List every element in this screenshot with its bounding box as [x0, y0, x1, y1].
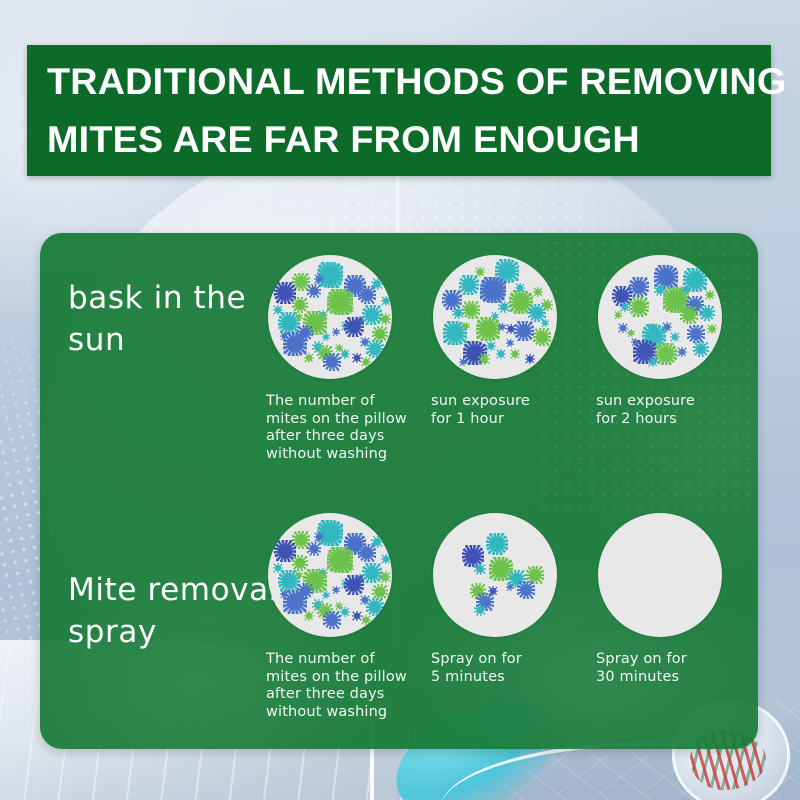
- mite-icon: [680, 306, 698, 324]
- mite-icon: [614, 311, 622, 319]
- mite-icon: [525, 354, 535, 364]
- mite-icon: [307, 284, 321, 298]
- mite-dish-sun-2-hours: [598, 255, 722, 379]
- headline-line-1: TRADITIONAL METHODS OF REMOVING: [47, 53, 785, 111]
- mite-icon: [510, 349, 520, 359]
- mite-icon: [629, 297, 649, 317]
- mite-icon: [304, 353, 314, 363]
- mite-icon: [304, 611, 314, 621]
- mite-icon: [346, 564, 354, 572]
- mite-dish-sun-1-hour: [433, 255, 557, 379]
- mite-dish-spray-30-minutes: [598, 513, 722, 637]
- mite-icon: [462, 301, 480, 319]
- mite-icon: [705, 290, 715, 300]
- mite-dish-sun-untreated: [268, 255, 392, 379]
- mite-icon: [361, 357, 371, 367]
- caption-spray-30-minutes: Spray on for 30 minutes: [596, 651, 754, 686]
- cell-sun-1-hour: sun exposure for 1 hour: [431, 255, 591, 428]
- mite-icon: [332, 328, 340, 336]
- caption-sun-untreated: The number of mites on the pillow after …: [266, 393, 426, 463]
- mite-icon: [681, 286, 689, 294]
- caption-spray-5-minutes: Spray on for 5 minutes: [431, 651, 589, 686]
- mite-dish-spray-untreated: [268, 513, 392, 637]
- mite-icon: [323, 353, 341, 371]
- mite-icon: [295, 571, 303, 579]
- mite-icon: [655, 343, 677, 365]
- mite-icon: [618, 323, 628, 333]
- mite-icon: [517, 581, 535, 599]
- mite-icon: [699, 305, 715, 321]
- row-bask-in-the-sun: bask in the sun The number of mites on t…: [40, 233, 758, 491]
- mite-icon: [541, 299, 553, 311]
- caption-sun-1-hour: sun exposure for 1 hour: [431, 393, 589, 428]
- cell-spray-30-minutes: Spray on for 30 minutes: [596, 513, 756, 686]
- mite-icon: [292, 555, 308, 571]
- mite-icon: [474, 604, 486, 616]
- mite-icon: [322, 333, 330, 341]
- mite-icon: [498, 301, 510, 313]
- mite-icon: [541, 319, 549, 327]
- mite-icon: [480, 277, 506, 303]
- infographic-canvas: TRADITIONAL METHODS OF REMOVING MITES AR…: [0, 0, 800, 800]
- mite-icon: [314, 274, 324, 284]
- mite-icon: [307, 542, 321, 556]
- mite-icon: [491, 312, 499, 320]
- mite-icon: [273, 305, 283, 315]
- mite-icon: [346, 306, 354, 314]
- mite-icon: [344, 317, 364, 337]
- headline-banner: TRADITIONAL METHODS OF REMOVING MITES AR…: [27, 45, 771, 176]
- mite-icon: [273, 563, 283, 573]
- mite-icon: [379, 571, 391, 583]
- mite-icon: [677, 347, 687, 357]
- mite-icon: [358, 544, 376, 562]
- mite-icon: [358, 286, 376, 304]
- mite-icon: [515, 283, 525, 293]
- mite-icon: [707, 324, 717, 334]
- row-label-bask-in-the-sun: bask in the sun: [68, 277, 283, 361]
- row-mite-removal-spray: Mite removal spray The number of mites o…: [40, 491, 758, 749]
- mite-icon: [475, 267, 485, 277]
- mite-icon: [476, 317, 500, 341]
- mite-icon: [314, 532, 324, 542]
- cell-sun-untreated: The number of mites on the pillow after …: [266, 255, 426, 463]
- mite-icon: [452, 307, 464, 319]
- mite-icon: [514, 321, 534, 341]
- mite-icon: [366, 340, 384, 358]
- mite-icon: [506, 339, 514, 347]
- mite-icon: [381, 554, 391, 564]
- cell-spray-untreated: The number of mites on the pillow after …: [266, 513, 426, 721]
- mite-icon: [292, 297, 308, 313]
- mite-icon: [381, 296, 391, 306]
- mite-icon: [693, 341, 709, 357]
- mite-icon: [459, 358, 467, 366]
- mite-icon: [478, 353, 490, 365]
- mite-icon: [459, 275, 479, 295]
- mite-icon: [344, 575, 364, 595]
- mite-icon: [506, 583, 514, 591]
- mite-icon: [533, 287, 543, 297]
- mite-icon: [322, 591, 330, 599]
- mite-icon: [280, 590, 288, 598]
- caption-sun-2-hours: sun exposure for 2 hours: [596, 393, 754, 428]
- mite-icon: [670, 332, 680, 342]
- mite-icon: [332, 586, 340, 594]
- mite-icon: [496, 349, 506, 359]
- headline-line-2: MITES ARE FAR FROM ENOUGH: [47, 111, 785, 169]
- mite-icon: [648, 357, 658, 367]
- mite-icon: [486, 341, 496, 351]
- caption-spray-untreated: The number of mites on the pillow after …: [266, 651, 426, 721]
- mite-icon: [474, 563, 486, 575]
- mite-icon: [629, 277, 649, 297]
- mite-icon: [379, 313, 391, 325]
- cell-sun-2-hours: sun exposure for 2 hours: [596, 255, 756, 428]
- mite-icon: [627, 329, 635, 337]
- mite-dish-spray-5-minutes: [433, 513, 557, 637]
- cell-spray-5-minutes: Spray on for 5 minutes: [431, 513, 591, 686]
- mite-icon: [280, 332, 288, 340]
- mite-icon: [361, 615, 371, 625]
- mite-icon: [295, 313, 303, 321]
- mite-icon: [533, 328, 551, 346]
- comparison-panel: bask in the sun The number of mites on t…: [40, 233, 758, 749]
- row-label-mite-removal-spray: Mite removal spray: [68, 569, 283, 653]
- mite-icon: [486, 533, 508, 555]
- mite-icon: [631, 338, 639, 346]
- mite-icon: [462, 322, 470, 330]
- mite-icon: [323, 611, 341, 629]
- mite-icon: [366, 598, 384, 616]
